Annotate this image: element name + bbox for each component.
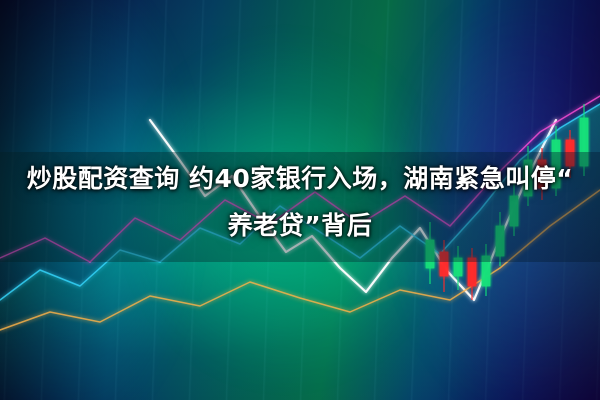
headline-line-2: 养老贷”背后 (12, 202, 588, 249)
headline-line-1: 炒股配资查询 约40家银行入场，湖南紧急叫停“ (12, 155, 588, 202)
headline-text: 炒股配资查询 约40家银行入场，湖南紧急叫停“ 养老贷”背后 (0, 155, 600, 249)
news-thumbnail-image: 炒股配资查询 约40家银行入场，湖南紧急叫停“ 养老贷”背后 (0, 0, 600, 400)
